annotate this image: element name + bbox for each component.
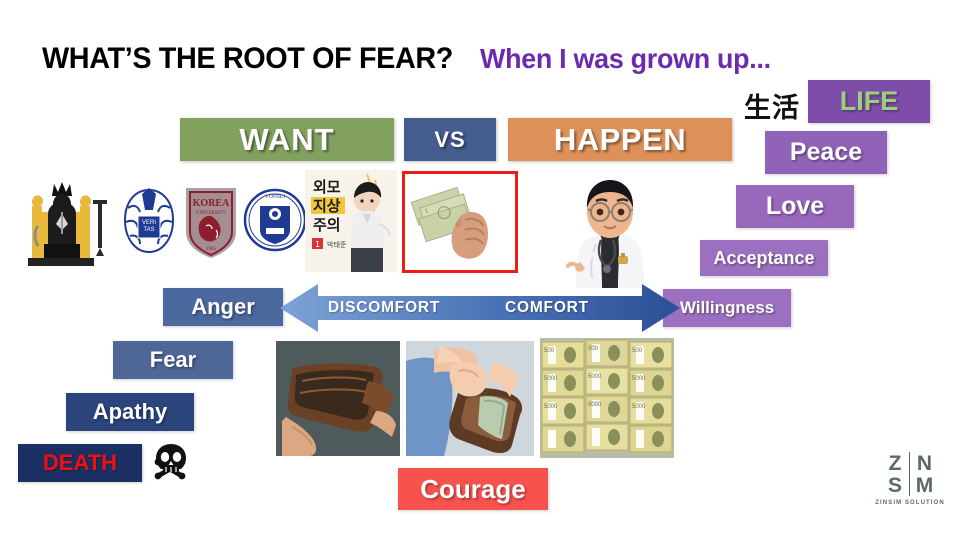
- skull-crossbones-icon: [150, 442, 192, 484]
- throne-king-icon: [18, 172, 110, 270]
- banner-vs[interactable]: VS: [404, 118, 496, 161]
- stacks-of-korean-won-photo: 500500500 500050005000 500050005000: [540, 338, 674, 458]
- arrow-label-comfort: COMFORT: [505, 282, 589, 334]
- empty-wallet-photo: [276, 341, 400, 456]
- chip-apathy[interactable]: Apathy: [66, 393, 194, 431]
- logo-letter-z: Z: [881, 452, 910, 474]
- svg-text:500: 500: [588, 346, 599, 352]
- banner-want[interactable]: WANT: [180, 118, 394, 161]
- zinsim-logo-letters: Z N S M: [881, 452, 939, 496]
- svg-text:5000: 5000: [588, 402, 602, 408]
- chip-willingness[interactable]: Willingness: [663, 289, 791, 327]
- snu-crest: VERI TAS: [116, 182, 182, 260]
- webtoon-line1: 외모: [313, 178, 341, 196]
- webtoon-cover-lookism: 외모 지상 주의 1 박태준: [305, 170, 397, 272]
- svg-text:YONSEI: YONSEI: [265, 194, 285, 200]
- chip-courage[interactable]: Courage: [398, 468, 548, 510]
- cartoon-doctor-avatar: [556, 170, 664, 288]
- arrow-label-discomfort: DISCOMFORT: [328, 282, 440, 334]
- discomfort-comfort-arrow: DISCOMFORT COMFORT: [280, 282, 680, 334]
- logo-letter-s: S: [881, 474, 910, 496]
- svg-text:5000: 5000: [544, 404, 558, 410]
- svg-text:1905: 1905: [206, 247, 217, 252]
- logo-letter-n: N: [910, 452, 939, 474]
- chip-fear[interactable]: Fear: [113, 341, 233, 379]
- title-subtitle-text: When I was grown up...: [480, 43, 771, 75]
- svg-text:1: 1: [315, 240, 320, 249]
- svg-text:5000: 5000: [544, 376, 558, 382]
- logo-letter-m: M: [910, 474, 939, 496]
- svg-text:KOREA: KOREA: [193, 198, 230, 209]
- life-kanji-text: 生活: [744, 86, 800, 125]
- page-title: WHAT’S THE ROOT OF FEAR? When I was grow…: [42, 42, 783, 76]
- webtoon-line2: 지상: [313, 197, 341, 215]
- svg-text:5000: 5000: [632, 404, 646, 410]
- svg-text:UNIVERSITY: UNIVERSITY: [196, 211, 226, 216]
- chip-anger[interactable]: Anger: [163, 288, 283, 326]
- chip-death[interactable]: DEATH: [18, 444, 142, 482]
- svg-text:VERI: VERI: [142, 220, 156, 226]
- svg-text:5000: 5000: [588, 374, 602, 380]
- chip-peace[interactable]: Peace: [765, 131, 887, 174]
- hand-taking-money-from-wallet-photo: [406, 341, 534, 456]
- title-main-text: WHAT’S THE ROOT OF FEAR?: [42, 42, 453, 76]
- banner-happen[interactable]: HAPPEN: [508, 118, 732, 161]
- svg-text:500: 500: [632, 348, 643, 354]
- zinsim-logo: Z N S M ZINSIM SOLUTION: [874, 452, 946, 514]
- svg-text:박태준: 박태준: [327, 240, 347, 249]
- svg-text:TAS: TAS: [143, 227, 154, 233]
- slide-canvas: WHAT’S THE ROOT OF FEAR? When I was grow…: [0, 0, 966, 543]
- webtoon-line3: 주의: [313, 216, 341, 234]
- zinsim-logo-caption: ZINSIM SOLUTION: [874, 500, 946, 506]
- korea-university-crest: KOREA UNIVERSITY 1905: [180, 182, 242, 260]
- chip-love[interactable]: Love: [736, 185, 854, 228]
- svg-text:500: 500: [544, 348, 555, 354]
- chip-acceptance[interactable]: Acceptance: [700, 240, 828, 276]
- yonsei-university-crest: YONSEI: [242, 180, 308, 260]
- fist-holding-dollars-image: 1: [402, 171, 518, 273]
- svg-text:5000: 5000: [632, 376, 646, 382]
- chip-life[interactable]: LIFE: [808, 80, 930, 123]
